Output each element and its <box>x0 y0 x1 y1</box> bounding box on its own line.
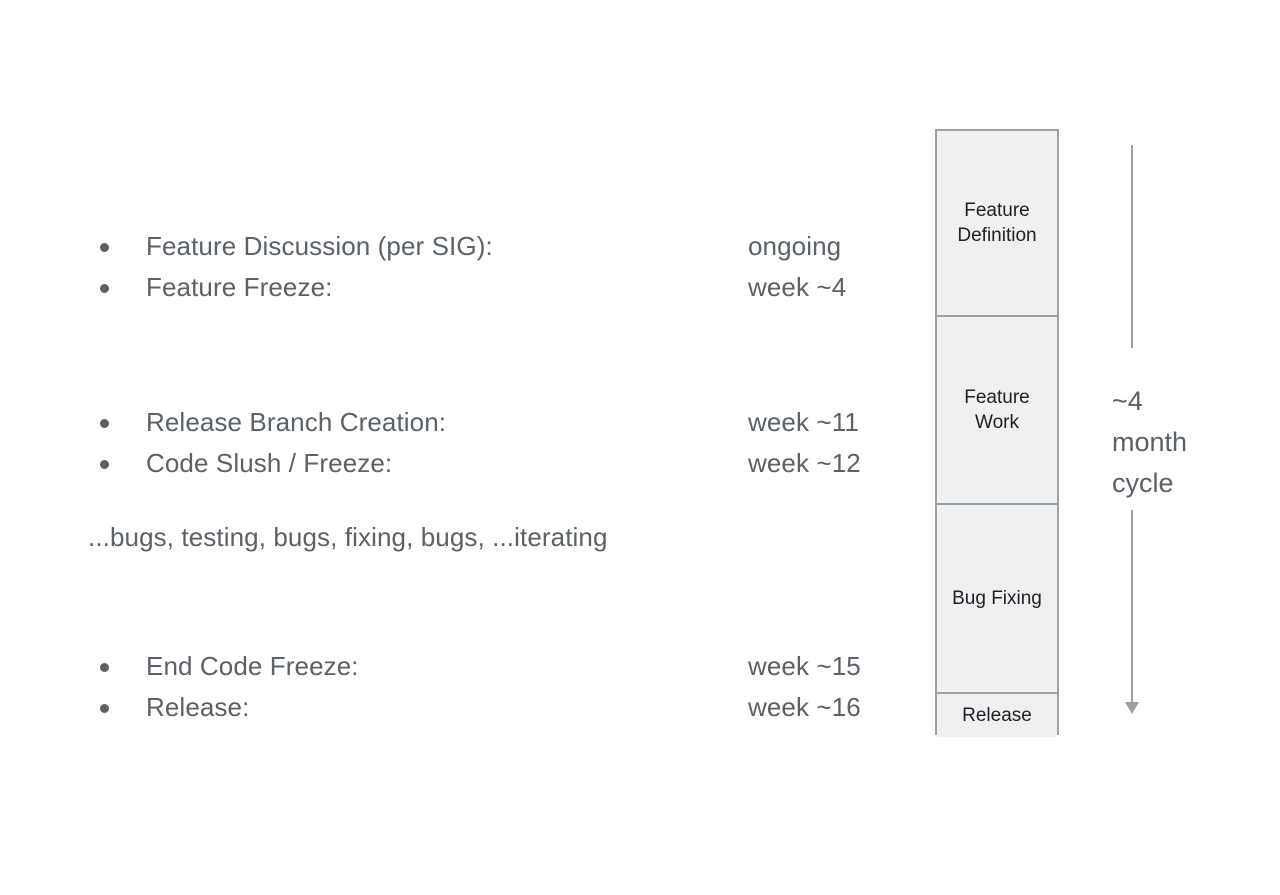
milestone-value: ongoing <box>748 226 841 267</box>
cycle-duration-text: ~4 month cycle <box>1112 381 1187 504</box>
phase-bar: Feature Definition Feature Work Bug Fixi… <box>935 129 1059 735</box>
cycle-text-line: month <box>1112 422 1187 463</box>
milestone-row: Release: week ~16 <box>88 687 908 728</box>
milestone-label: Code Slush / Freeze: <box>146 443 392 484</box>
milestone-row: Feature Freeze: week ~4 <box>88 267 908 308</box>
milestone-row: Code Slush / Freeze: week ~12 <box>88 443 908 484</box>
milestone-value: week ~15 <box>748 646 861 687</box>
milestone-row: End Code Freeze: week ~15 <box>88 646 908 687</box>
slide-canvas: Feature Discussion (per SIG): ongoing Fe… <box>0 0 1280 895</box>
phase-label: Feature Definition <box>937 198 1057 248</box>
milestone-row: Release Branch Creation: week ~11 <box>88 402 908 443</box>
milestone-value: week ~11 <box>748 402 859 443</box>
bullet-icon <box>100 460 109 469</box>
bullet-icon <box>100 419 109 428</box>
phase-label: Feature Work <box>937 385 1057 435</box>
phase-segment: Feature Definition <box>937 131 1057 317</box>
milestone-label: Release Branch Creation: <box>146 402 446 443</box>
phase-label: Bug Fixing <box>948 586 1046 611</box>
iteration-note: ...bugs, testing, bugs, fixing, bugs, ..… <box>88 522 608 553</box>
milestone-value: week ~12 <box>748 443 861 484</box>
arrow-down-icon <box>1125 702 1139 714</box>
cycle-text-line: ~4 <box>1112 381 1187 422</box>
cycle-line-upper <box>1131 145 1133 348</box>
phase-segment: Feature Work <box>937 317 1057 505</box>
milestone-label: End Code Freeze: <box>146 646 359 687</box>
bullet-icon <box>100 663 109 672</box>
milestone-group-1: Feature Discussion (per SIG): ongoing Fe… <box>88 226 908 308</box>
milestone-label: Feature Freeze: <box>146 267 332 308</box>
bullet-icon <box>100 243 109 252</box>
bullet-icon <box>100 284 109 293</box>
cycle-text-line: cycle <box>1112 463 1187 504</box>
milestone-label: Release: <box>146 687 249 728</box>
bullet-icon <box>100 704 109 713</box>
phase-segment: Release <box>937 694 1057 737</box>
cycle-line-lower <box>1131 510 1133 705</box>
cycle-duration-annotation: ~4 month cycle <box>1100 129 1250 735</box>
phase-segment: Bug Fixing <box>937 505 1057 694</box>
milestone-label: Feature Discussion (per SIG): <box>146 226 493 267</box>
milestone-group-2: Release Branch Creation: week ~11 Code S… <box>88 402 908 484</box>
milestone-group-3: End Code Freeze: week ~15 Release: week … <box>88 646 908 728</box>
milestone-row: Feature Discussion (per SIG): ongoing <box>88 226 908 267</box>
milestone-value: week ~4 <box>748 267 846 308</box>
milestone-value: week ~16 <box>748 687 861 728</box>
phase-label: Release <box>958 703 1036 728</box>
